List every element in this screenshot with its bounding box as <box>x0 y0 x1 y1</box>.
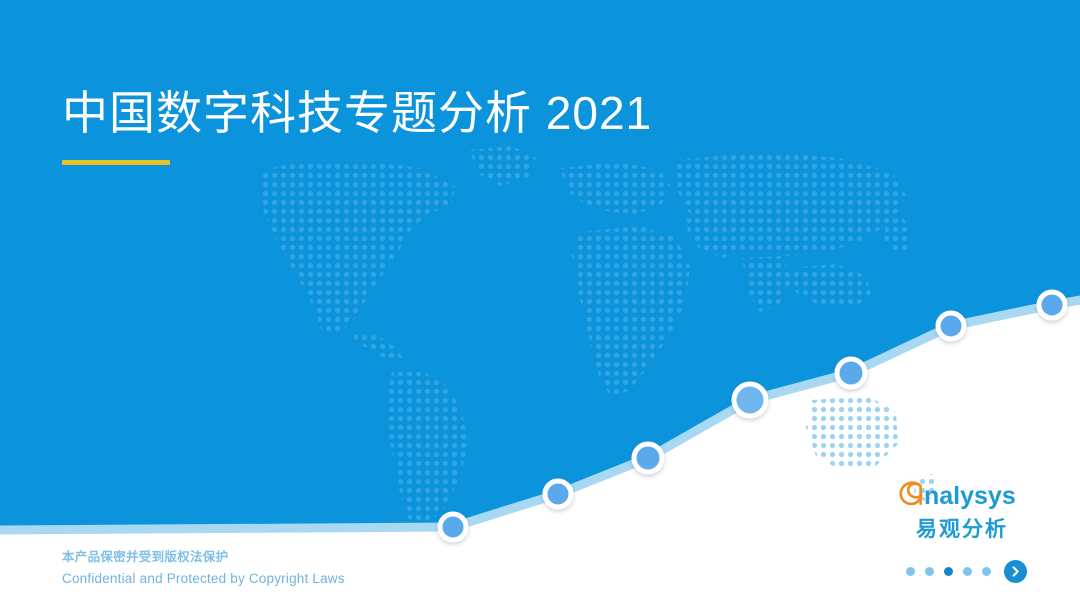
title-block: 中国数字科技专题分析 2021 <box>62 86 842 165</box>
analysys-wordmark-text: nalysys <box>924 482 1016 510</box>
pager-dot-3[interactable] <box>944 567 953 576</box>
title-underline-rule <box>62 160 170 165</box>
chevron-right-icon <box>1009 565 1022 578</box>
presentation-slide: 中国数字科技专题分析 2021 本产品保密并受到版权法保护 Confidenti… <box>0 0 1080 608</box>
slide-pagination <box>906 560 1027 583</box>
confidential-notice-cn: 本产品保密并受到版权法保护 <box>62 548 345 566</box>
page-title: 中国数字科技专题分析 2021 <box>62 86 842 140</box>
analysys-logo: nalysys 易观分析 <box>898 478 1026 543</box>
confidential-notice: 本产品保密并受到版权法保护 Confidential and Protected… <box>62 548 345 589</box>
analysys-swirl-icon <box>901 483 921 504</box>
analysys-wordmark: nalysys <box>898 478 1026 512</box>
pager-dot-1[interactable] <box>906 567 915 576</box>
pager-dot-2[interactable] <box>925 567 934 576</box>
pager-dot-5[interactable] <box>982 567 991 576</box>
analysys-name-cn: 易观分析 <box>898 513 1026 543</box>
pager-dot-4[interactable] <box>963 567 972 576</box>
confidential-notice-en: Confidential and Protected by Copyright … <box>62 569 345 589</box>
next-slide-button[interactable] <box>1004 560 1027 583</box>
